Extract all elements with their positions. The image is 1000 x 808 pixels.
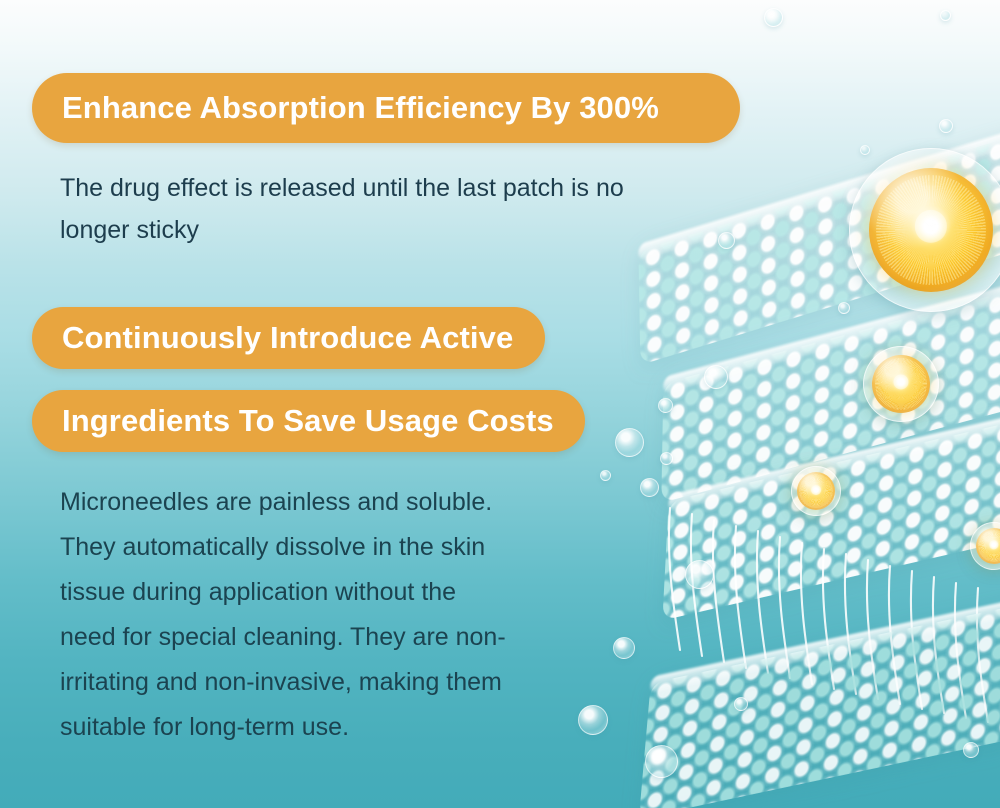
paragraph-1: The drug effect is released until the la…: [60, 167, 720, 251]
product-feature-banner: Enhance Absorption Efficiency By 300% Th…: [0, 0, 1000, 808]
heading-2-label: Continuously Introduce Active: [32, 320, 513, 356]
heading-pill-2: Continuously Introduce Active: [32, 307, 545, 369]
heading-3-label: Ingredients To Save Usage Costs: [32, 403, 554, 439]
heading-pill-1: Enhance Absorption Efficiency By 300%: [32, 73, 740, 143]
banner-content: Enhance Absorption Efficiency By 300% Th…: [0, 0, 1000, 808]
heading-pill-3: Ingredients To Save Usage Costs: [32, 390, 585, 452]
paragraph-2: Microneedles are painless and soluble. T…: [60, 480, 580, 750]
heading-1-label: Enhance Absorption Efficiency By 300%: [32, 90, 659, 126]
